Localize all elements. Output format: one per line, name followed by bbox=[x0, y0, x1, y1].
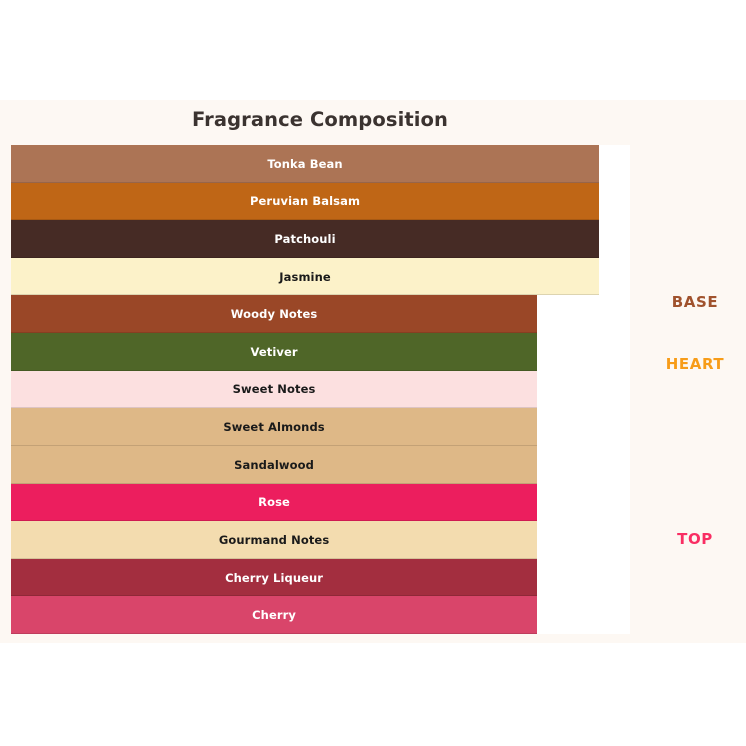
bar-row[interactable]: Jasmine bbox=[11, 258, 630, 296]
bar-row[interactable]: Peruvian Balsam bbox=[11, 183, 630, 221]
bar-label: Jasmine bbox=[11, 258, 599, 296]
bar-label: Cherry Liqueur bbox=[11, 559, 537, 597]
bar-label: Peruvian Balsam bbox=[11, 183, 599, 221]
chart-figure: Fragrance Composition Tonka BeanPeruvian… bbox=[0, 100, 746, 643]
group-label-base: BASE bbox=[650, 293, 740, 311]
bar-row[interactable]: Gourmand Notes bbox=[11, 521, 630, 559]
bar-row[interactable]: Cherry Liqueur bbox=[11, 559, 630, 597]
bar-label: Sandalwood bbox=[11, 446, 537, 484]
bar-label: Sweet Notes bbox=[11, 371, 537, 409]
bar-row[interactable]: Vetiver bbox=[11, 333, 630, 371]
bar-label: Patchouli bbox=[11, 220, 599, 258]
bar-row[interactable]: Sandalwood bbox=[11, 446, 630, 484]
chart-title: Fragrance Composition bbox=[0, 108, 640, 131]
bar-label: Tonka Bean bbox=[11, 145, 599, 183]
bar-label: Gourmand Notes bbox=[11, 521, 537, 559]
group-label-top: TOP bbox=[650, 530, 740, 548]
bar-label: Rose bbox=[11, 484, 537, 522]
group-label-heart: HEART bbox=[650, 355, 740, 373]
bar-row[interactable]: Patchouli bbox=[11, 220, 630, 258]
bar-row[interactable]: Sweet Almonds bbox=[11, 408, 630, 446]
bar-row[interactable]: Sweet Notes bbox=[11, 371, 630, 409]
bar-row[interactable]: Woody Notes bbox=[11, 295, 630, 333]
bar-label: Cherry bbox=[11, 596, 537, 634]
bar-label: Vetiver bbox=[11, 333, 537, 371]
bar-row[interactable]: Cherry bbox=[11, 596, 630, 634]
bar-row[interactable]: Rose bbox=[11, 484, 630, 522]
bar-row[interactable]: Tonka Bean bbox=[11, 145, 630, 183]
bar-label: Sweet Almonds bbox=[11, 408, 537, 446]
bar-label: Woody Notes bbox=[11, 295, 537, 333]
